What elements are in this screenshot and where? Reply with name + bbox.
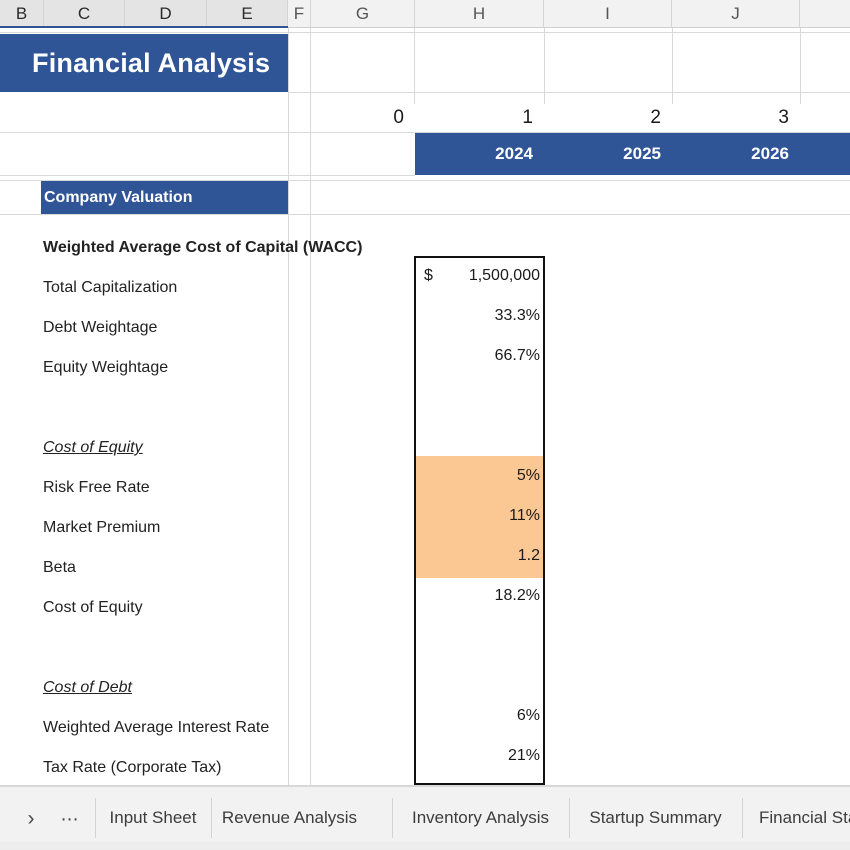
value-cell-cost-of-equity[interactable]: 18.2% xyxy=(414,576,545,616)
row-label-debt-weightage: Debt Weightage xyxy=(43,308,157,348)
value-cell-debt-weightage[interactable]: 33.3% xyxy=(414,296,545,336)
value-tax-rate: 21% xyxy=(414,736,545,776)
gridline-row-1 xyxy=(0,32,850,33)
section-header-company-valuation: Company Valuation xyxy=(41,181,288,214)
value-cell-beta[interactable]: 1.2 xyxy=(414,536,545,576)
row-label-equity-weightage: Equity Weightage xyxy=(43,348,168,388)
period-index-0: 0 xyxy=(311,104,415,132)
gridline-vertical-f-g xyxy=(310,28,311,785)
row-label-weighted-average-interest-rate: Weighted Average Interest Rate xyxy=(43,708,269,748)
period-index-2: 2 xyxy=(544,104,672,132)
ellipsis-icon[interactable]: ⋯ xyxy=(55,804,85,834)
value-total-capitalization: 1,500,000 xyxy=(414,256,545,296)
sheet-tab-bar: › ⋯ Input Sheet Revenue Analysis Invento… xyxy=(0,785,850,850)
value-cost-of-equity: 18.2% xyxy=(414,576,545,616)
gridline-row-year-left xyxy=(0,175,415,176)
column-header-f[interactable]: F xyxy=(288,0,311,28)
column-header-h[interactable]: H xyxy=(415,0,544,28)
column-header-e[interactable]: E xyxy=(207,0,288,28)
row-label-tax-rate-corporate-tax: Tax Rate (Corporate Tax) xyxy=(43,748,221,788)
spreadsheet-canvas: B C D E F G H I J Financial Analysis 0 xyxy=(0,0,850,850)
gridline-vertical-e-f xyxy=(288,28,289,785)
value-debt-weightage: 33.3% xyxy=(414,296,545,336)
year-header-2026: 2026 xyxy=(672,133,800,175)
tab-bar-bottom-strip xyxy=(0,842,850,850)
value-cell-weighted-average-interest-rate[interactable]: 6% xyxy=(414,696,545,736)
column-header-g[interactable]: G xyxy=(311,0,415,28)
grid-body: Financial Analysis 0 1 2 3 2024 2025 202… xyxy=(0,28,850,785)
sheet-tab-input-sheet[interactable]: Input Sheet xyxy=(95,798,210,838)
value-cell-equity-weightage[interactable]: 66.7% xyxy=(414,336,545,376)
value-risk-free-rate: 5% xyxy=(414,456,545,496)
column-header-d[interactable]: D xyxy=(125,0,207,28)
year-header-banner: 2024 2025 2026 xyxy=(415,133,850,175)
row-label-cost-of-debt-heading: Cost of Debt xyxy=(43,668,132,708)
column-header-b[interactable]: B xyxy=(0,0,44,28)
tab-bar-top-divider xyxy=(0,786,850,787)
column-header-c[interactable]: C xyxy=(44,0,125,28)
sheet-tab-inventory-analysis[interactable]: Inventory Analysis xyxy=(392,798,568,838)
value-equity-weightage: 66.7% xyxy=(414,336,545,376)
sheet-tab-revenue-analysis[interactable]: Revenue Analysis xyxy=(211,798,367,838)
period-index-3: 3 xyxy=(672,104,800,132)
row-label-risk-free-rate: Risk Free Rate xyxy=(43,468,150,508)
gridline-row-section xyxy=(0,214,850,215)
sheet-tab-financial-statements[interactable]: Financial Sta xyxy=(742,798,850,838)
gridline-row-title-bottom xyxy=(288,92,850,93)
chevron-right-icon[interactable]: › xyxy=(18,804,44,834)
value-cell-market-premium[interactable]: 11% xyxy=(414,496,545,536)
row-label-market-premium: Market Premium xyxy=(43,508,160,548)
value-beta: 1.2 xyxy=(414,536,545,576)
workbook-title-banner: Financial Analysis xyxy=(0,34,288,92)
row-label-cost-of-equity: Cost of Equity xyxy=(43,588,143,628)
sheet-tab-startup-summary[interactable]: Startup Summary xyxy=(569,798,741,838)
value-weighted-average-interest-rate: 6% xyxy=(414,696,545,736)
row-label-total-capitalization: Total Capitalization xyxy=(43,268,177,308)
period-index-1: 1 xyxy=(415,104,544,132)
year-header-2024: 2024 xyxy=(415,133,544,175)
column-header-i[interactable]: I xyxy=(544,0,672,28)
column-header-j[interactable]: J xyxy=(672,0,800,28)
column-header-strip: B C D E F G H I J xyxy=(0,0,850,28)
value-cell-risk-free-rate[interactable]: 5% xyxy=(414,456,545,496)
column-header-k[interactable] xyxy=(800,0,850,28)
value-cell-total-capitalization[interactable]: $ 1,500,000 xyxy=(414,256,545,296)
section-header-label: Company Valuation xyxy=(44,189,192,207)
value-market-premium: 11% xyxy=(414,496,545,536)
page-title: Financial Analysis xyxy=(32,48,270,79)
row-label-cost-of-equity-heading: Cost of Equity xyxy=(43,428,143,468)
row-label-beta: Beta xyxy=(43,548,76,588)
year-header-2025: 2025 xyxy=(544,133,672,175)
value-cell-tax-rate[interactable]: 21% xyxy=(414,736,545,776)
row-label-wacc-heading: Weighted Average Cost of Capital (WACC) xyxy=(43,228,362,268)
